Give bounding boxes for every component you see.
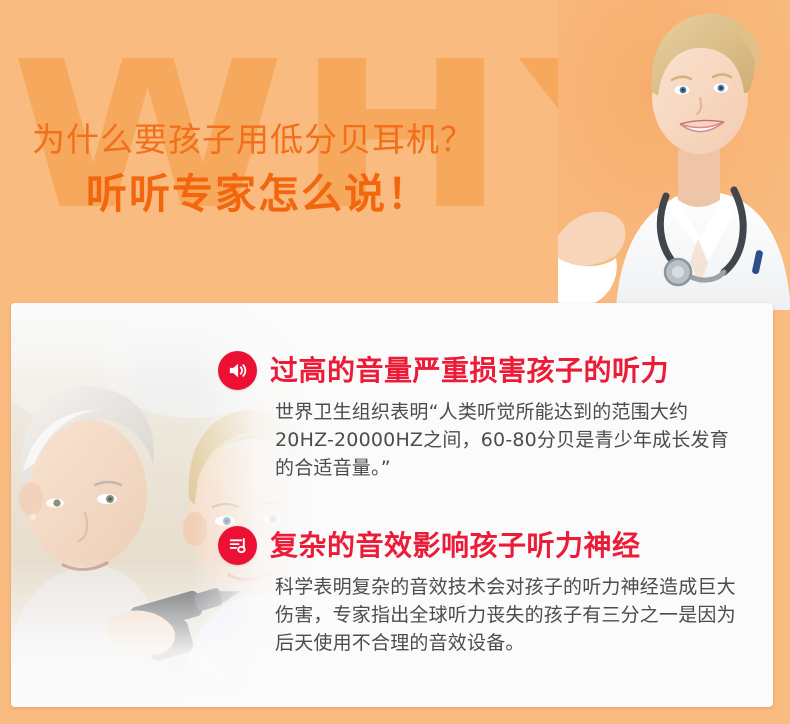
points-list: 过高的音量严重损害孩子的听力 世界卫生组织表明“人类听觉所能达到的范围大约20H… xyxy=(218,351,763,667)
points-spacer xyxy=(218,492,763,526)
point-title: 过高的音量严重损害孩子的听力 xyxy=(270,353,669,389)
marketing-banner-page: WHY xyxy=(0,0,790,724)
point-title: 复杂的音效影响孩子听力神经 xyxy=(270,528,641,564)
point-item: 过高的音量严重损害孩子的听力 世界卫生组织表明“人类听觉所能达到的范围大约20H… xyxy=(218,351,763,482)
point-body: 科学表明复杂的音效技术会对孩子的听力神经造成巨大伤害，专家指出全球听力丧失的孩子… xyxy=(275,573,745,657)
headline-question: 为什么要孩子用低分贝耳机？ xyxy=(32,118,600,162)
point-header: 过高的音量严重损害孩子的听力 xyxy=(218,351,763,390)
point-item: 复杂的音效影响孩子听力神经 科学表明复杂的音效技术会对孩子的听力神经造成巨大伤害… xyxy=(218,526,763,657)
point-header: 复杂的音效影响孩子听力神经 xyxy=(218,526,763,565)
headline-cta: 听听专家怎么说！ xyxy=(86,168,600,220)
music-note-icon xyxy=(218,526,257,565)
headline-group: 为什么要孩子用低分贝耳机？ 听听专家怎么说！ xyxy=(0,118,600,220)
speaker-volume-icon xyxy=(218,351,257,390)
expert-points-card: 过高的音量严重损害孩子的听力 世界卫生组织表明“人类听觉所能达到的范围大约20H… xyxy=(11,303,773,707)
point-body: 世界卫生组织表明“人类听觉所能达到的范围大约20HZ-20000HZ之间，60-… xyxy=(275,398,745,482)
